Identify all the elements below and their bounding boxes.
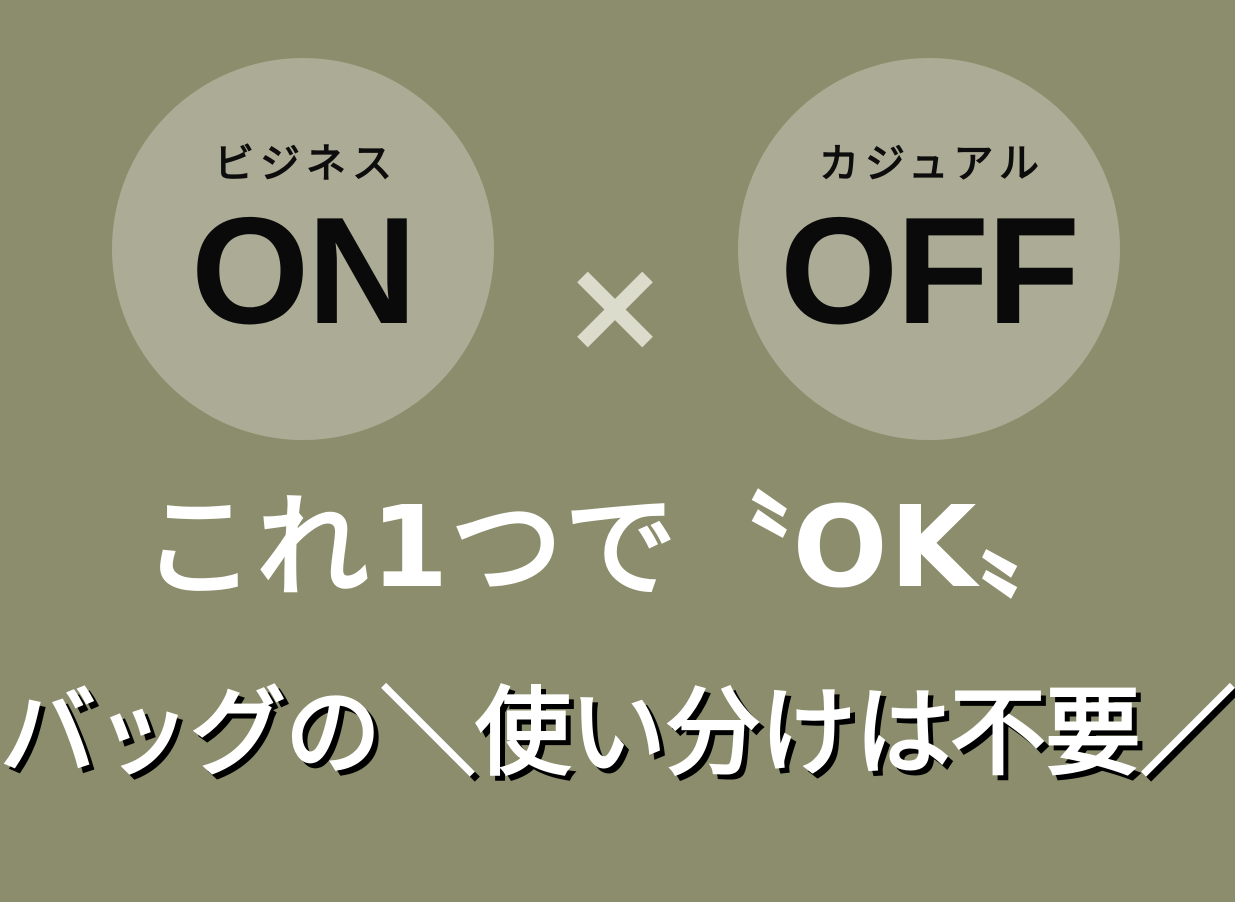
x-cross-icon xyxy=(575,269,655,349)
badge-kana-label-casual: カジュアル xyxy=(813,144,1045,184)
subline-text: バッグの＼使い分けは不要／です xyxy=(0,676,1235,791)
badge-kana-label-business: ビジネス xyxy=(208,144,398,184)
promo-poster: ビジネス ON カジュアル OFF これ1つで〝OK〟 バッグの＼使い分けは不要… xyxy=(0,0,1235,902)
badge-casual-off: カジュアル OFF xyxy=(738,58,1120,440)
badge-business-on: ビジネス ON xyxy=(112,58,494,440)
headline-text: これ1つで〝OK〟 xyxy=(0,482,1235,614)
badge-row: ビジネス ON カジュアル OFF xyxy=(0,58,1235,440)
badge-state-label-off: OFF xyxy=(780,192,1078,352)
badge-state-label-on: ON xyxy=(191,192,415,352)
